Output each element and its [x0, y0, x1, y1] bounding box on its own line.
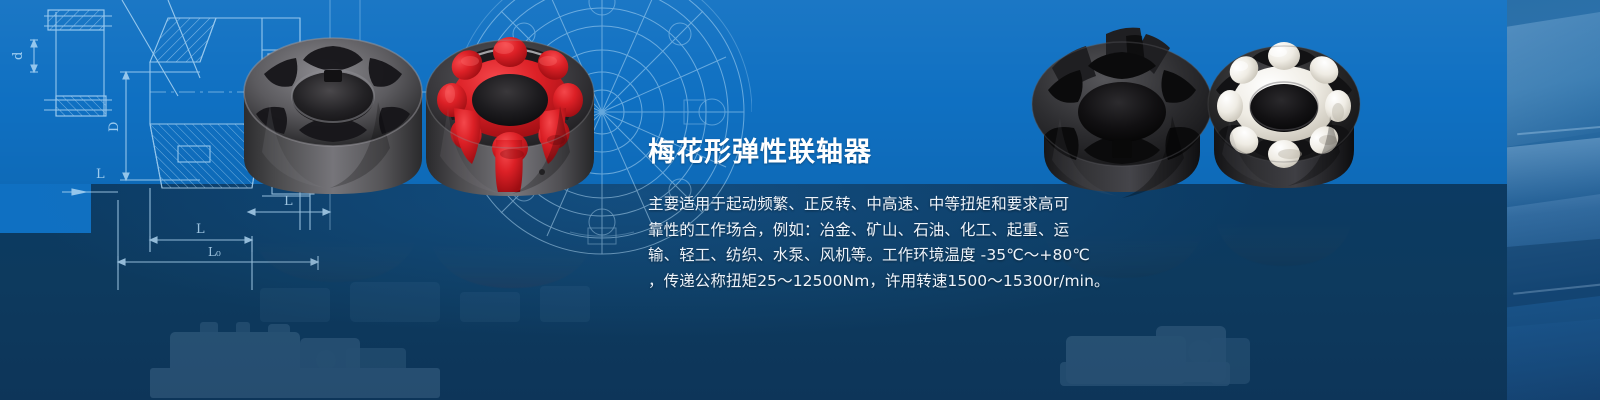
- description-line-1: 主要适用于起动频繁、正反转、中高速、中等扭矩和要求高可: [648, 192, 1068, 218]
- product-coupling-hub-red-spider: [408, 12, 613, 212]
- blueprint-label-d: d: [11, 52, 26, 60]
- ghost-machine-photo-right: [1507, 0, 1600, 400]
- blueprint-label-L0: L₀: [208, 245, 221, 259]
- product-coupling-hub-white-spider: [1198, 22, 1370, 194]
- blueprint-label-L1: L: [196, 222, 205, 237]
- blueprint-label-L-small: L: [96, 167, 105, 182]
- product-coupling-hub-steel: [228, 18, 438, 208]
- description-line-4: ，传递公称扭矩25～12500Nm，许用转速1500～15300r/min。: [648, 269, 1068, 295]
- description-line-2: 靠性的工作场合，例如：冶金、矿山、石油、化工、起重、运: [648, 218, 1068, 244]
- page-title: 梅花形弹性联轴器: [648, 136, 1068, 170]
- description-line-3: 输、轻工、纺织、水泵、风机等。工作环境温度 -35℃～+80℃: [648, 243, 1068, 269]
- product-banner: d D D L L L L₀: [0, 0, 1600, 400]
- blueprint-label-D2: D: [107, 122, 122, 132]
- banner-text-block: 梅花形弹性联轴器 主要适用于起动频繁、正反转、中高速、中等扭矩和要求高可 靠性的…: [648, 136, 1068, 294]
